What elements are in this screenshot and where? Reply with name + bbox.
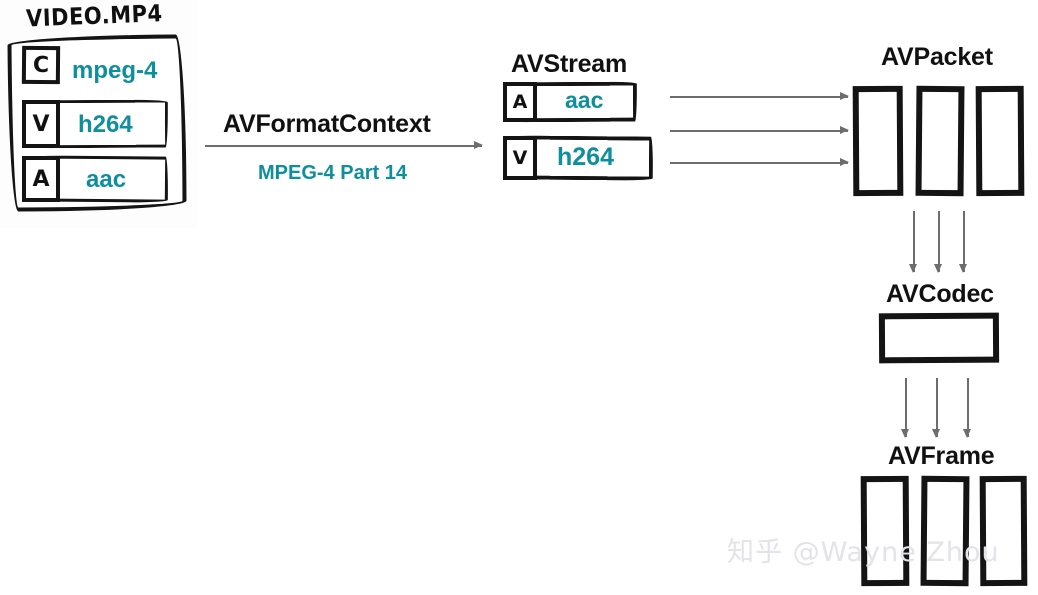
arrow-head	[932, 429, 940, 438]
packet-to-codec-arrow-2	[934, 211, 943, 272]
file-tag-audio-label: A	[32, 167, 49, 192]
file-tag-container: C	[22, 46, 60, 84]
avformatcontext-title: AVFormatContext	[223, 110, 431, 139]
watermark-label: 知乎 @Wayne Zhou	[727, 530, 1000, 569]
arrow-shaft	[938, 211, 940, 272]
file-name-label: VIDEO.MP4	[26, 0, 164, 32]
arrow-shaft	[963, 211, 965, 272]
video-file-panel: VIDEO.MP4 C mpeg-4 V h264 A aac	[0, 0, 198, 228]
avformatcontext-subtitle: MPEG-4 Part 14	[258, 162, 407, 185]
arrow-head	[959, 264, 967, 273]
avpacket-title: AVPacket	[881, 43, 993, 72]
avstream-tag-audio: A	[503, 82, 537, 122]
stream-to-packet-arrow-2	[670, 126, 848, 135]
file-tag-video: V	[22, 100, 60, 148]
packet-to-codec-arrow-1	[909, 211, 918, 272]
avframe-title: AVFrame	[888, 442, 995, 471]
avpacket-box-2	[916, 86, 965, 196]
file-value-audio: aac	[86, 166, 126, 194]
codec-to-frame-arrow-2	[932, 378, 941, 437]
codec-to-frame-arrow-3	[963, 378, 972, 437]
file-tag-container-label: C	[33, 52, 49, 77]
avcodec-box	[879, 313, 999, 364]
arrow-shaft	[913, 211, 915, 272]
arrow-head	[963, 429, 971, 438]
avstream-value-video: h264	[557, 143, 614, 172]
packet-to-codec-arrow-3	[959, 211, 968, 272]
file-value-video: h264	[78, 111, 133, 139]
arrow-shaft	[670, 162, 848, 164]
avstream-title: AVStream	[511, 50, 627, 79]
arrow-head	[840, 92, 849, 100]
arrow-head	[909, 264, 917, 273]
arrow-head	[901, 429, 909, 438]
file-tag-audio: A	[22, 156, 60, 202]
stream-to-packet-arrow-1	[670, 92, 848, 101]
avstream-value-audio: aac	[565, 87, 603, 114]
arrow-head	[934, 264, 942, 273]
arrow-shaft	[670, 130, 848, 132]
arrow-head	[474, 141, 483, 149]
avpacket-box-3	[976, 86, 1025, 196]
avstream-tag-audio-label: A	[513, 91, 528, 113]
arrow-shaft	[205, 145, 482, 147]
arrow-head	[840, 126, 849, 134]
avstream-tag-video-label: V	[513, 147, 528, 169]
avformatcontext-arrow	[205, 141, 482, 150]
diagram-canvas: VIDEO.MP4 C mpeg-4 V h264 A aac AVFormat…	[0, 0, 1038, 595]
arrow-shaft	[670, 96, 848, 98]
codec-to-frame-arrow-1	[901, 378, 910, 437]
file-value-container: mpeg-4	[72, 57, 157, 85]
avstream-tag-video: V	[503, 136, 537, 180]
avpacket-box-1	[853, 86, 904, 196]
arrow-head	[840, 158, 849, 166]
stream-to-packet-arrow-3	[670, 158, 848, 167]
avcodec-title: AVCodec	[886, 280, 994, 309]
file-tag-video-label: V	[32, 112, 49, 137]
